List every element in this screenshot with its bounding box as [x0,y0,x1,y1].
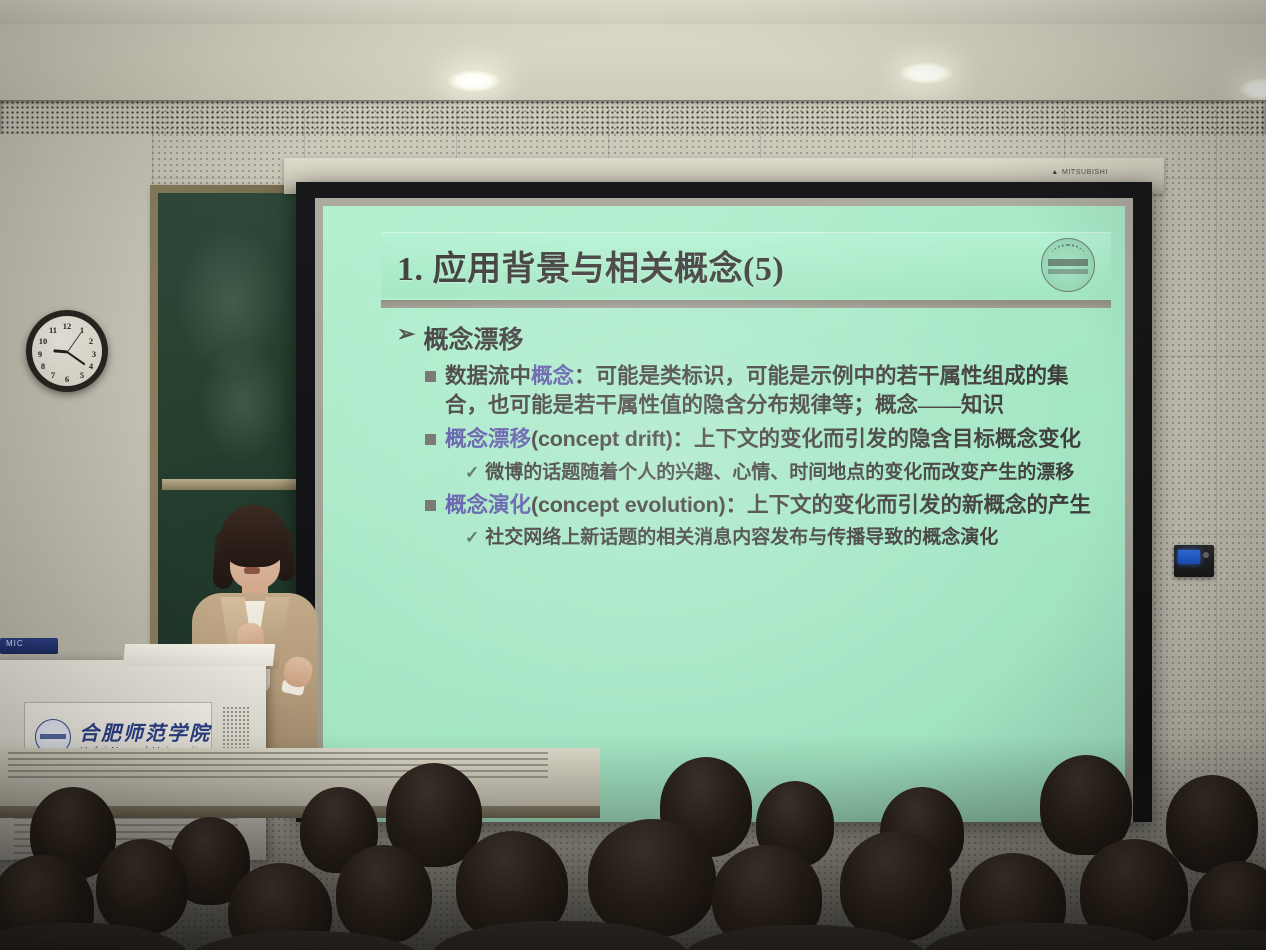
clock-number: 3 [88,349,100,359]
clock-number: 1 [76,325,88,335]
clock-number: 7 [47,370,59,380]
slide-title: 1. 应用背景与相关概念(5) [397,241,784,290]
slide-bullet-level3: ✓ 微博的话题随着个人的兴趣、心情、时间地点的变化而改变产生的漂移 [465,460,1103,485]
lectern-mic-base: MIC [0,638,58,654]
bullet-english: (concept drift) [531,427,673,451]
square-bullet-icon [425,434,436,445]
audience-head [840,831,952,941]
slide-bullet-level2: 数据流中概念：可能是类标识，可能是示例中的若干属性组成的集合，也可能是若干属性值… [425,362,1103,419]
square-bullet-icon [425,371,436,382]
mic-label: MIC [6,639,24,648]
device-knob-icon [1203,552,1209,558]
screen-mat: 1. 应用背景与相关概念(5) ➢ 概念漂移 数据流中 [315,198,1133,822]
clock-minute-hand [66,351,85,365]
bullet-english: (concept evolution) [531,493,725,517]
wall-mounted-device[interactable] [1174,545,1214,577]
clock-number: 12 [61,321,73,331]
clock-number: 5 [76,370,88,380]
school-seal-icon [1041,238,1095,292]
bullet-lead: 数据流中 [445,364,531,388]
chalk-rail [162,479,314,490]
clock-second-hand [67,332,82,352]
audience-head [336,845,432,943]
brand-mark-icon: ▲ [1051,169,1059,176]
ceiling-vent-band [0,100,1266,134]
clock-number: 6 [61,374,73,384]
clock-hour-hand [53,349,67,353]
slide-canvas: 1. 应用背景与相关概念(5) ➢ 概念漂移 数据流中 [323,206,1125,822]
clock-number: 10 [37,336,49,346]
bullet-text: 社交网络上新话题的相关消息内容发布与传播导致的概念演化 [485,525,998,550]
bullet-keyword: 概念演化 [445,493,531,517]
check-bullet-icon: ✓ [465,462,479,484]
slide-bullet-level2: 概念漂移(concept drift)：上下文的变化而引发的隐含目标概念变化 [425,425,1103,454]
slide-heading-text: 概念漂移 [423,320,523,356]
clock-number: 9 [34,349,46,359]
check-bullet-icon: ✓ [465,527,479,549]
ceiling-light-icon [900,62,952,84]
square-bullet-icon [425,500,436,511]
audience-head [1166,775,1258,873]
bullet-keyword: 概念漂移 [445,427,531,451]
wall-clock: 12 1 2 3 4 5 6 7 8 9 10 11 [26,310,108,392]
lecture-hall-photo: 12 1 2 3 4 5 6 7 8 9 10 11 [0,0,1266,950]
bullet-keyword: 概念 [531,364,574,388]
arrow-bullet-icon: ➢ [397,320,415,348]
bullet-body: 数据流中概念：可能是类标识，可能是示例中的若干属性组成的集合，也可能是若干属性值… [445,362,1103,419]
projector-brand-label: ▲MITSUBISHI [1051,169,1108,176]
ceiling-light-icon [448,70,500,92]
bullet-text: ：上下文的变化而引发的隐含目标概念变化 [673,427,1082,451]
clock-number: 11 [47,325,59,335]
bullet-text: 微博的话题随着个人的兴趣、心情、时间地点的变化而改变产生的漂移 [485,460,1074,485]
slide-bullet-level3: ✓ 社交网络上新话题的相关消息内容发布与传播导致的概念演化 [465,525,1103,550]
bullet-body: 概念演化(concept evolution)：上下文的变化而引发的新概念的产生 [445,491,1091,520]
audience [0,735,1266,950]
device-display [1178,550,1200,564]
clock-number: 2 [85,336,97,346]
slide-title-bar: 1. 应用背景与相关概念(5) [381,232,1111,298]
presenter-hair [220,505,288,567]
lectern-top-surface [123,644,275,666]
title-divider [381,300,1111,308]
bullet-body: 概念漂移(concept drift)：上下文的变化而引发的隐含目标概念变化 [445,425,1081,454]
ceiling [0,0,1266,108]
audience-head [1040,755,1132,855]
audience-head [96,839,188,935]
bullet-text: ：上下文的变化而引发的新概念的产生 [726,493,1092,517]
slide-heading-level1: ➢ 概念漂移 [397,320,1103,356]
slide-bullet-level2: 概念演化(concept evolution)：上下文的变化而引发的新概念的产生 [425,491,1103,520]
clock-face: 12 1 2 3 4 5 6 7 8 9 10 11 [32,316,102,386]
audience-head [588,819,716,937]
projection-screen-frame: 1. 应用背景与相关概念(5) ➢ 概念漂移 数据流中 [296,182,1152,822]
clock-number: 8 [37,361,49,371]
ceiling-top-strip [0,0,1266,24]
